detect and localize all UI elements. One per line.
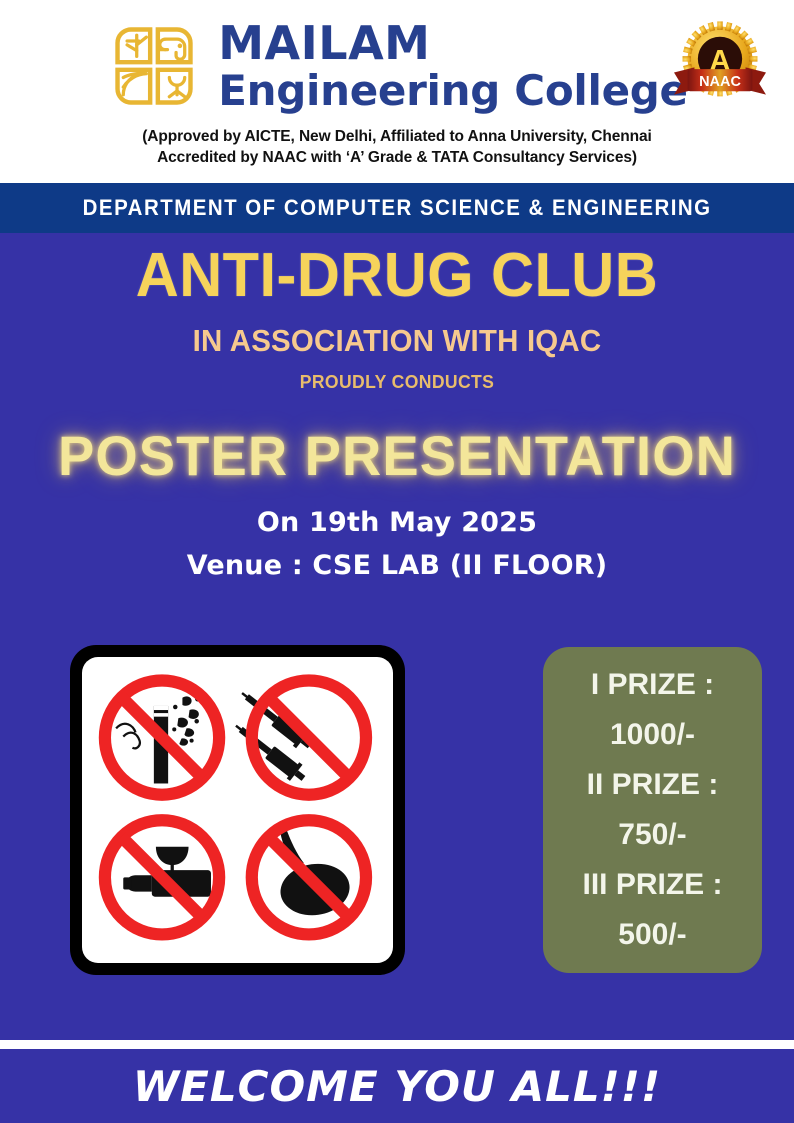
footer-divider	[0, 1040, 794, 1049]
association-line: IN ASSOCIATION WITH IQAC	[20, 323, 774, 359]
affiliation-text: (Approved by AICTE, New Delhi, Affiliate…	[0, 126, 794, 168]
poster-header: MAILAM Engineering College	[0, 0, 794, 183]
event-venue: Venue : CSE LAB (II FLOOR)	[0, 550, 794, 581]
svg-text:NAAC: NAAC	[699, 74, 741, 90]
club-title: ANTI-DRUG CLUB	[16, 240, 778, 311]
mailam-college-emblem-icon	[106, 18, 202, 114]
college-name-line-1: MAILAM	[218, 20, 687, 66]
poster-body: ANTI-DRUG CLUB IN ASSOCIATION WITH IQAC …	[0, 233, 794, 1040]
prize-amount-1: 1000/-	[610, 710, 695, 760]
prize-line-2: II PRIZE :	[587, 760, 719, 810]
affiliation-line-2: Accredited by NAAC with ‘A’ Grade & TATA…	[0, 147, 794, 168]
prize-line-3: III PRIZE :	[582, 860, 722, 910]
poster-root: MAILAM Engineering College	[0, 0, 794, 1123]
prohibition-symbols-grid	[82, 657, 393, 963]
prize-amount-3: 500/-	[618, 910, 686, 960]
college-name-block: MAILAM Engineering College	[218, 20, 687, 112]
naac-accreditation-badge-icon: A NAAC	[668, 18, 772, 110]
no-drug-pouch-icon	[252, 820, 366, 934]
department-banner-text: DEPARTMENT OF COMPUTER SCIENCE & ENGINEE…	[83, 195, 712, 221]
no-alcohol-bottle-glass-icon	[105, 820, 219, 934]
prize-amount-2: 750/-	[618, 810, 686, 860]
prize-box: I PRIZE : 1000/- II PRIZE : 750/- III PR…	[543, 647, 762, 973]
event-date: On 19th May 2025	[0, 507, 794, 538]
affiliation-line-1: (Approved by AICTE, New Delhi, Affiliate…	[0, 126, 794, 147]
welcome-text: WELCOME YOU ALL!!!	[133, 1062, 661, 1111]
prize-line-1: I PRIZE :	[591, 660, 714, 710]
anti-drug-prohibition-sign	[70, 645, 405, 975]
poster-footer: WELCOME YOU ALL!!!	[0, 1049, 794, 1123]
college-name-line-2: Engineering College	[218, 70, 687, 112]
no-smoking-cigarette-icon	[105, 680, 219, 794]
no-syringe-injection-icon	[230, 680, 366, 794]
event-title: POSTER PRESENTATION	[12, 423, 782, 488]
department-banner: DEPARTMENT OF COMPUTER SCIENCE & ENGINEE…	[0, 183, 794, 233]
conducts-line: PROUDLY CONDUCTS	[20, 371, 774, 393]
